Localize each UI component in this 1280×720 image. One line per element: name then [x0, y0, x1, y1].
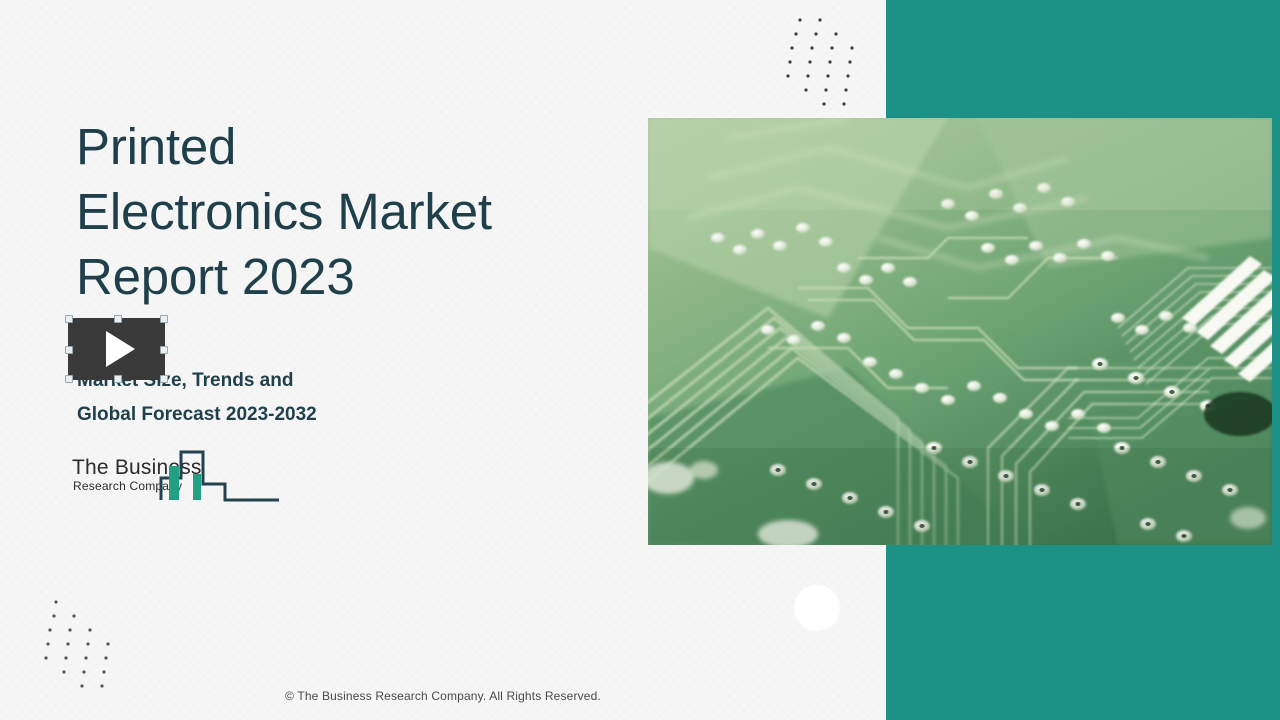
- dot-grid-bottom-left-icon: [44, 596, 140, 701]
- footer-copyright: © The Business Research Company. All Rig…: [0, 689, 886, 703]
- logo-bar-chart-icon: [159, 448, 282, 506]
- circle-accent: [794, 585, 840, 631]
- slide-canvas: Printed Electronics Market Report 2023 M…: [0, 0, 1280, 720]
- selection-handle-bottom-left[interactable]: [65, 375, 73, 383]
- video-play-button[interactable]: [68, 318, 165, 380]
- company-logo: The Business Research Company: [70, 448, 282, 510]
- title-line-1: Printed: [76, 114, 616, 179]
- selection-handle-bottom-center[interactable]: [114, 375, 122, 383]
- circuit-board-image: [648, 118, 1272, 545]
- selection-handle-top-left[interactable]: [65, 315, 73, 323]
- title-line-3: Report 2023: [76, 244, 616, 309]
- selection-handle-middle-right[interactable]: [160, 346, 168, 354]
- selection-handle-bottom-right[interactable]: [160, 375, 168, 383]
- subtitle-line-2: Global Forecast 2023-2032: [77, 398, 577, 432]
- selection-handle-top-right[interactable]: [160, 315, 168, 323]
- page-title: Printed Electronics Market Report 2023: [76, 114, 616, 309]
- play-icon: [106, 331, 135, 367]
- title-line-2: Electronics Market: [76, 179, 616, 244]
- selection-handle-top-center[interactable]: [114, 315, 122, 323]
- dot-grid-top-right-icon: [786, 14, 882, 119]
- selection-handle-middle-left[interactable]: [65, 346, 73, 354]
